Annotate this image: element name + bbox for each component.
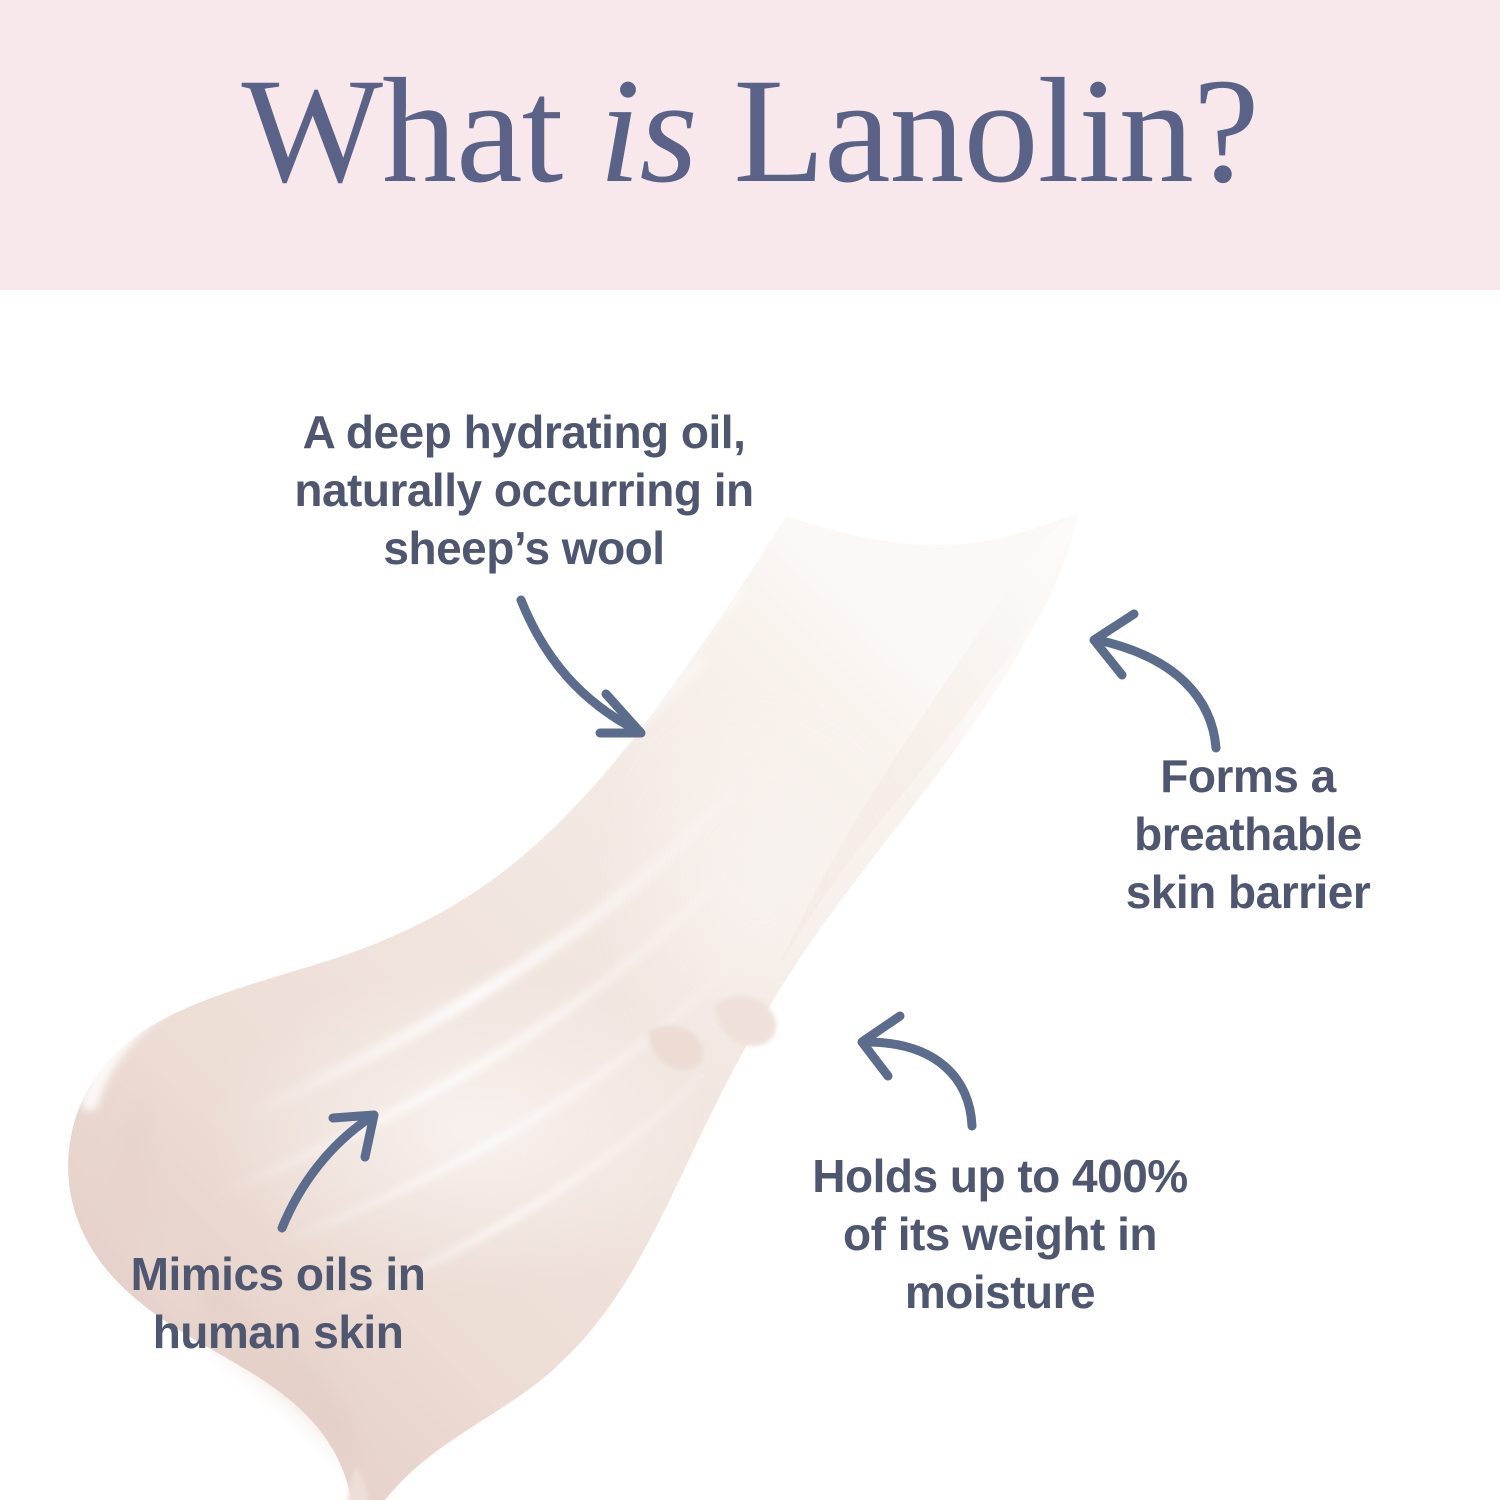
arrow-curve-down-right-icon — [521, 600, 641, 733]
swatch-rim-highlight — [90, 590, 735, 1102]
swatch-edge-nub-lower — [648, 1026, 703, 1070]
callout-skin-barrier: Forms a breathable skin barrier — [1062, 748, 1434, 922]
page-title-emphasis: is — [599, 48, 697, 214]
arrow-curve-up-left-lower-icon — [862, 1016, 972, 1126]
page-title-part-after: Lanolin? — [697, 48, 1259, 214]
swatch-upper-glow — [590, 680, 930, 1100]
swatch-center-glow — [210, 970, 730, 1290]
swatch-rim-highlight-secondary — [178, 662, 700, 992]
callout-mimics-skin-oils: Mimics oils in human skin — [78, 1246, 478, 1362]
swatch-edge-nub — [714, 996, 776, 1047]
swatch-gloss-streaks — [214, 760, 760, 1314]
callout-moisture-capacity: Holds up to 400% of its weight in moistu… — [730, 1148, 1270, 1322]
arrow-curve-up-left-icon — [1094, 614, 1216, 748]
swatch-tail-tip — [347, 1466, 369, 1500]
page-title-part-before: What — [241, 48, 598, 214]
swatch-tip — [778, 514, 1078, 968]
infographic-canvas: What is Lanolin? — [0, 0, 1500, 1500]
arrow-curve-up-right-icon — [282, 1115, 374, 1228]
callout-hydrating-oil: A deep hydrating oil, naturally occurrin… — [214, 404, 834, 578]
header-band: What is Lanolin? — [0, 0, 1500, 290]
page-title: What is Lanolin? — [0, 56, 1500, 206]
